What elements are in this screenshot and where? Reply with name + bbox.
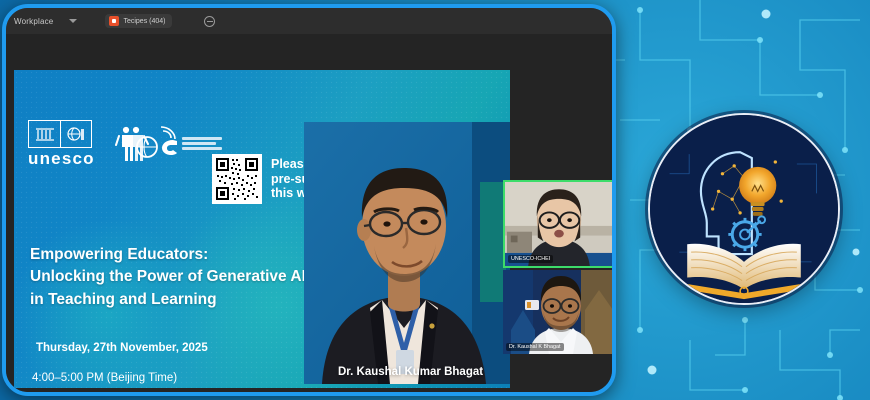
ioe-logo-text bbox=[182, 137, 222, 150]
video-tile-participant-2[interactable]: Dr. Kaushal K Bhagat bbox=[503, 270, 615, 354]
slide-logo-row: unesco bbox=[28, 120, 222, 167]
unesco-logo: unesco bbox=[28, 120, 95, 167]
slide-date: Thursday, 27th November, 2025 bbox=[36, 342, 208, 354]
ai-education-emblem bbox=[648, 113, 840, 305]
slide-times: 4:00–5:00 PM (Beijing Time) 8:00–9:00 AM… bbox=[32, 370, 177, 388]
video-tile-label: Dr. Kaushal K Bhagat bbox=[506, 343, 564, 351]
video-tile-label: UNESCO-ICHEI bbox=[508, 255, 553, 263]
emblem-artwork bbox=[650, 115, 838, 303]
video-tile-participant-1[interactable]: UNESCO-ICHEI bbox=[503, 180, 615, 268]
ioe-logo bbox=[113, 123, 222, 165]
chevron-down-icon[interactable] bbox=[69, 19, 77, 23]
screenshot-root: Workplace Tecipes (404) bbox=[0, 0, 870, 400]
browser-tab[interactable]: Tecipes (404) bbox=[105, 14, 172, 28]
slide-title: Empowering Educators: Unlocking the Powe… bbox=[30, 244, 306, 311]
unesco-wordmark: unesco bbox=[28, 150, 95, 167]
qr-code[interactable] bbox=[212, 154, 262, 204]
speaker-photo bbox=[304, 122, 510, 384]
window-titlebar: Workplace Tecipes (404) bbox=[6, 8, 612, 34]
tab-title: Tecipes (404) bbox=[123, 18, 165, 25]
unesco-emblem-icon bbox=[60, 121, 91, 147]
unesco-temple-icon bbox=[29, 121, 60, 147]
meeting-app-window: Workplace Tecipes (404) bbox=[2, 4, 616, 396]
tab-favicon-icon bbox=[109, 16, 119, 26]
minimize-circle-icon[interactable] bbox=[204, 16, 215, 27]
meeting-stage: unesco bbox=[6, 34, 612, 392]
shared-slide[interactable]: unesco bbox=[14, 70, 510, 388]
app-name-label: Workplace bbox=[14, 17, 53, 26]
slide-speaker-name: Dr. Kaushal Kumar Bhagat bbox=[338, 366, 483, 378]
